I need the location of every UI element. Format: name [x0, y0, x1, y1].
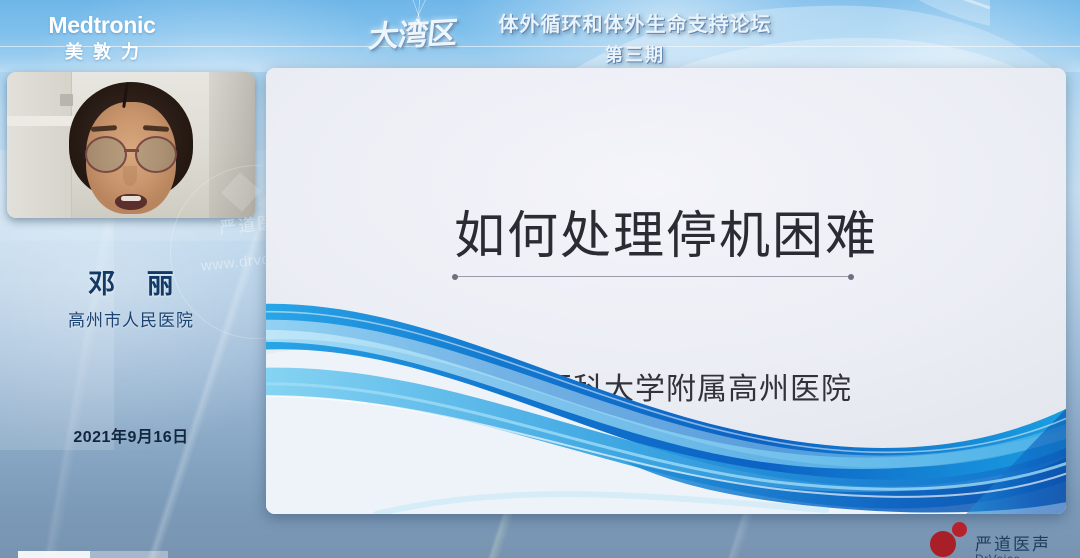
broadcast-date: 2021年9月16日 [0, 423, 262, 447]
slide-wave-graphic [266, 264, 1066, 514]
playback-progress-fill [18, 551, 90, 558]
logo-circle-small-icon [952, 522, 967, 537]
person-glasses [81, 136, 181, 170]
forum-title-group: 体外循环和体外生命支持论坛 第三期 [470, 8, 800, 67]
greater-bay-area-emblem: 大湾区 [348, 4, 478, 66]
emblem-sparkle-icon [400, 0, 440, 30]
webcam-person [69, 82, 193, 218]
webcam-shadow-right [209, 72, 255, 218]
playback-progress-bar[interactable] [18, 551, 168, 558]
person-nose [123, 166, 137, 186]
logo-text-en: DrVoice [975, 552, 1021, 558]
glasses-bridge [124, 149, 139, 152]
logo-circle-large-icon [930, 531, 956, 557]
webcam-wall-ledge [7, 116, 77, 126]
video-stream-stage: 严道医声 www.drvoice.cn Me [0, 0, 1080, 558]
slide-title: 如何处理停机困难 [266, 194, 1066, 268]
medtronic-wordmark-en: Medtronic [27, 14, 177, 37]
forum-title-sub: 第三期 [470, 41, 800, 67]
person-mouth [115, 194, 147, 210]
presentation-slide[interactable]: 如何处理停机困难 广东医科大学附属高州医院 邓丽 [266, 68, 1066, 514]
forum-title-main: 体外循环和体外生命支持论坛 [470, 8, 800, 37]
medtronic-wordmark-cn: 美敦力 [27, 43, 177, 61]
speaker-organization: 高州市人民医院 [0, 306, 262, 331]
medtronic-logo: Medtronic 美敦力 [27, 14, 177, 61]
glasses-lens-right [135, 136, 177, 173]
speaker-name: 邓 丽 [0, 262, 262, 301]
speaker-webcam-tile[interactable] [7, 72, 255, 218]
glasses-lens-left [85, 136, 127, 173]
drvoice-logo: 严道医声 DrVoice [930, 519, 1080, 558]
